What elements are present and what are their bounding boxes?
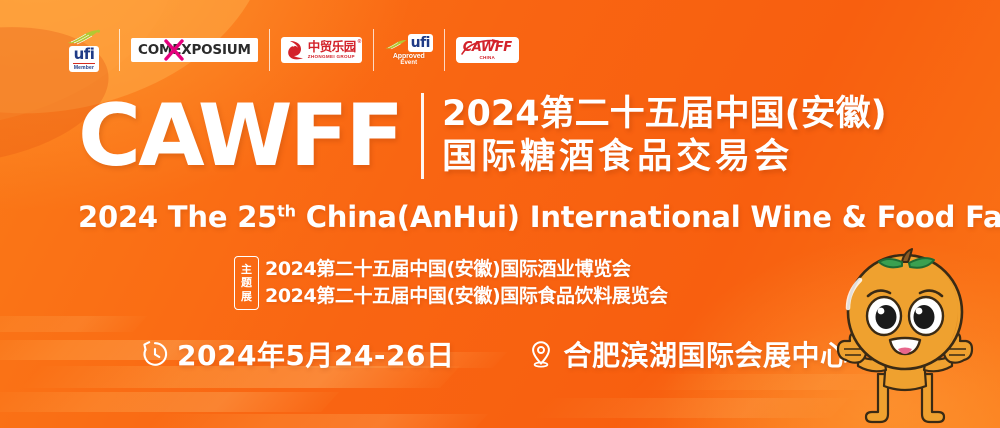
cawff-swoosh-icon	[458, 38, 510, 60]
zhongmei-cn-text: 中贸乐园	[308, 40, 356, 54]
event-date: 2024年5月24-26日	[177, 334, 454, 374]
ufi-approved-top-row: ufi	[385, 34, 433, 52]
ufi-wordmark: ufi	[74, 47, 95, 62]
chinese-title-line-2: 国际糖酒食品交易会	[442, 136, 886, 179]
registered-mark: ®	[358, 40, 361, 45]
comexposium-wordmark: COMEXPOSIUM	[138, 42, 251, 58]
chinese-title-line-1: 2024第二十五届中国(安徽)	[442, 93, 886, 136]
page-title: CAWFF	[78, 94, 401, 178]
logo-divider	[444, 29, 445, 71]
zhongmei-dragon-icon	[287, 40, 305, 60]
zhongmei-wordmark: 中贸乐园®	[308, 41, 356, 54]
event-venue-item: 合肥滨湖国际会展中心	[526, 334, 848, 374]
comexposium-x-icon	[164, 39, 184, 61]
ufi-member-wordmark-box: ufi Member	[69, 46, 99, 72]
event-venue: 合肥滨湖国际会展中心	[563, 334, 848, 374]
ufi-wing-icon	[67, 29, 101, 45]
cawff-logo: CAWFF CHINA	[456, 37, 519, 63]
bg-stripe	[142, 414, 488, 428]
theme-badge: 主 题 展	[234, 256, 259, 310]
ufi-approved-event-logo: ufi Approved Event	[385, 34, 433, 66]
logo-divider	[119, 29, 120, 71]
theme-line: 2024第二十五届中国(安徽)国际食品饮料展览会	[265, 283, 668, 310]
event-meta-row: 2024年5月24-26日 合肥滨湖国际会展中心	[140, 334, 848, 374]
ufi-approved-label: Approved	[393, 53, 425, 60]
logo-divider	[373, 29, 374, 71]
headline-row: CAWFF 2024第二十五届中国(安徽) 国际糖酒食品交易会	[78, 93, 887, 180]
bg-stripe	[0, 392, 339, 412]
headline-divider	[421, 93, 424, 179]
subtitle-suffix: China(AnHui) International Wine & Food F…	[296, 200, 1000, 234]
theme-badge-char-2: 题	[241, 276, 252, 289]
comexposium-logo: COMEXPOSIUM	[131, 38, 258, 62]
orange-mascot-thumbs-up	[816, 246, 994, 428]
ufi-member-logo: ufi Member	[60, 29, 108, 72]
event-banner: ufi Member COMEXPOSIUM 中贸乐园® ZHONGMEI GR…	[0, 0, 1000, 428]
theme-exhibitions: 主 题 展 2024第二十五届中国(安徽)国际酒业博览会 2024第二十五届中国…	[234, 256, 668, 310]
zhongmei-group-logo: 中贸乐园® ZHONGMEI GROUP	[281, 37, 362, 63]
ufi-wordmark-box: ufi	[408, 34, 433, 52]
theme-badge-char-3: 展	[241, 290, 252, 303]
location-pin-icon	[526, 339, 556, 369]
theme-line-list: 2024第二十五届中国(安徽)国际酒业博览会 2024第二十五届中国(安徽)国际…	[265, 256, 668, 310]
clock-icon	[140, 339, 170, 369]
theme-line: 2024第二十五届中国(安徽)国际酒业博览会	[265, 256, 668, 283]
subtitle-prefix: 2024 The 25	[78, 200, 277, 234]
subtitle-ordinal: th	[277, 201, 296, 220]
ufi-wordmark: ufi	[411, 35, 430, 51]
english-subtitle: 2024 The 25th China(AnHui) International…	[78, 200, 1000, 234]
ufi-wing-icon	[385, 38, 407, 51]
chinese-title-group: 2024第二十五届中国(安徽) 国际糖酒食品交易会	[442, 93, 886, 180]
divider	[73, 63, 95, 64]
bg-stripe	[0, 316, 147, 332]
ufi-event-label: Event	[400, 60, 417, 66]
bg-stripe	[531, 398, 849, 418]
zhongmei-en-label: ZHONGMEI GROUP	[308, 55, 356, 60]
sponsor-logo-bar: ufi Member COMEXPOSIUM 中贸乐园® ZHONGMEI GR…	[60, 27, 519, 73]
ufi-member-label: Member	[74, 66, 94, 71]
theme-badge-char-1: 主	[241, 263, 252, 276]
event-date-item: 2024年5月24-26日	[140, 334, 454, 374]
zhongmei-wordmark-group: 中贸乐园® ZHONGMEI GROUP	[308, 41, 356, 60]
logo-divider	[269, 29, 270, 71]
